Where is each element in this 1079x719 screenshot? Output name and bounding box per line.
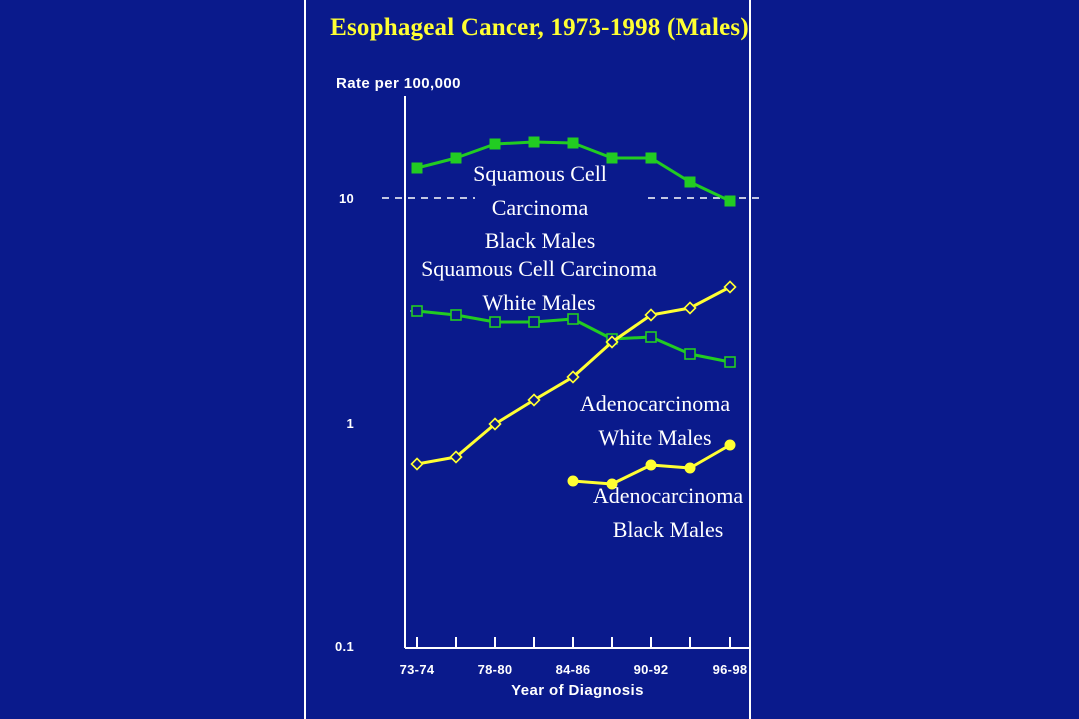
data-point-marker — [646, 460, 656, 470]
y-tick-label-1: 1 — [296, 416, 354, 431]
data-point-marker — [685, 349, 695, 359]
series-label-squamous-black: Squamous Cell Carcinoma Black Males — [440, 157, 640, 258]
series-label-adeno-white: Adenocarcinoma White Males — [560, 387, 750, 454]
y-tick-label-10: 10 — [296, 191, 354, 206]
y-tick-label-0.1: 0.1 — [296, 639, 354, 654]
data-point-marker — [646, 153, 656, 163]
series-label-adeno-black: Adenocarcinoma Black Males — [573, 479, 763, 546]
data-point-marker — [412, 459, 423, 470]
data-point-marker — [685, 177, 695, 187]
data-point-marker — [725, 282, 736, 293]
data-point-marker — [685, 463, 695, 473]
series-label-squamous-white: Squamous Cell Carcinoma White Males — [398, 252, 680, 319]
data-point-marker — [490, 139, 500, 149]
x-tick-label-96-98: 96-98 — [690, 662, 770, 677]
x-tick-label-78-80: 78-80 — [455, 662, 535, 677]
x-tick-label-73-74: 73-74 — [377, 662, 457, 677]
data-point-marker — [529, 137, 539, 147]
chart-plot-area — [0, 0, 1079, 719]
x-axis-title: Year of Diagnosis — [405, 682, 750, 699]
x-axis-ticks — [417, 637, 730, 648]
slide-canvas: Esophageal Cancer, 1973-1998 (Males) Rat… — [0, 0, 1079, 719]
data-point-marker — [725, 196, 735, 206]
data-point-marker — [568, 138, 578, 148]
data-point-marker — [685, 303, 696, 314]
data-point-marker — [412, 163, 422, 173]
x-tick-label-90-92: 90-92 — [611, 662, 691, 677]
data-point-marker — [646, 332, 656, 342]
data-point-marker — [725, 357, 735, 367]
x-tick-label-84-86: 84-86 — [533, 662, 613, 677]
